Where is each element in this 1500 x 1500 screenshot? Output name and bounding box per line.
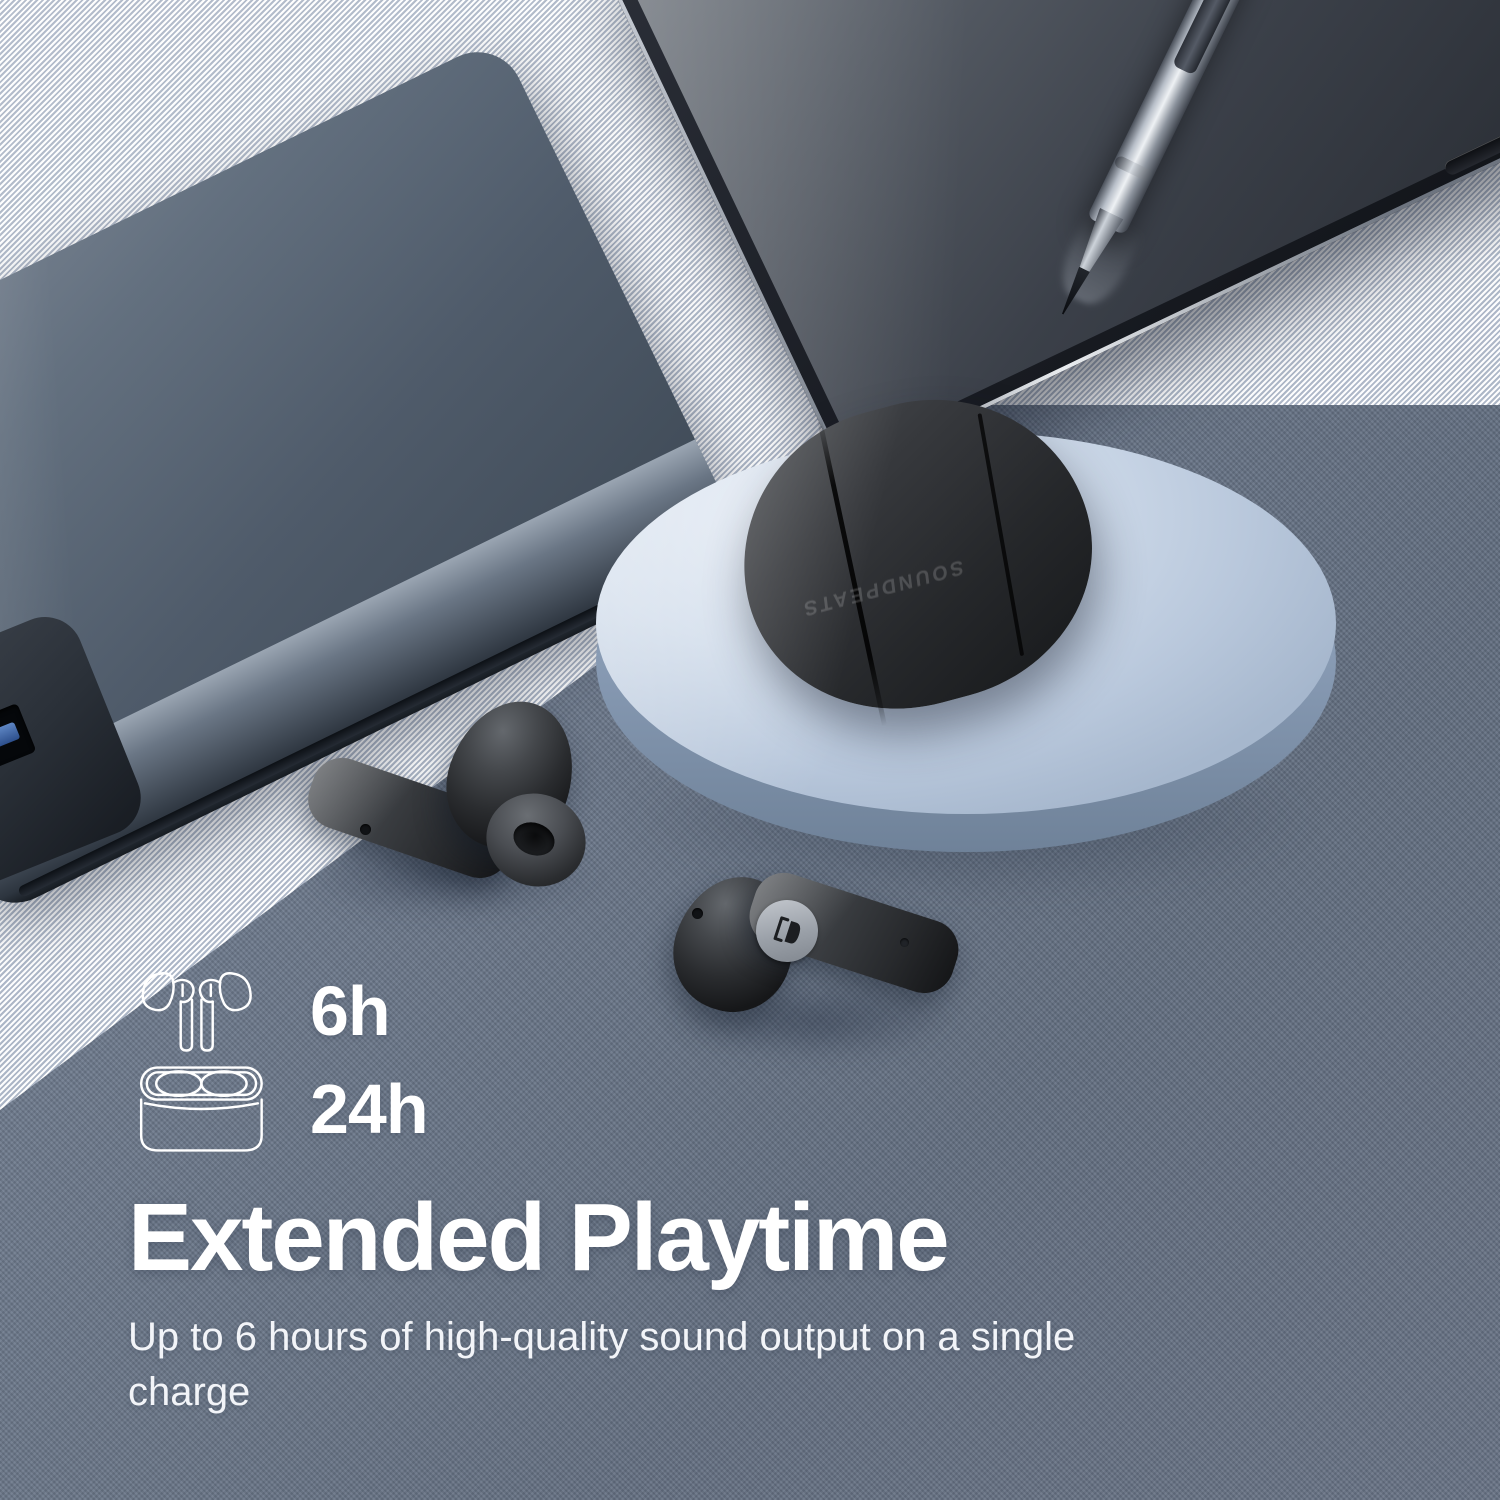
spec-value: 6h [310, 976, 390, 1046]
spec-row: 24h [128, 1060, 548, 1158]
charging-case-icon [128, 1061, 288, 1157]
spec-row: 6h [128, 962, 548, 1060]
earbud-right [660, 862, 960, 1052]
battery-spec-block: 6h 24h [128, 962, 548, 1158]
copy-block: Extended Playtime Up to 6 hours of high-… [128, 1188, 1308, 1420]
spec-value: 24h [310, 1074, 428, 1144]
subtitle: Up to 6 hours of high-quality sound outp… [128, 1310, 1188, 1420]
earbud-left [300, 690, 600, 890]
earbud-left-mic-hole [360, 824, 371, 835]
product-marketing-image: SOUNDPEATS [0, 0, 1500, 1500]
earbud-right-charging-pin [900, 938, 909, 947]
usb-blue-insert [0, 721, 20, 771]
earbuds-pair-icon [128, 963, 288, 1059]
stylus-tip [1057, 267, 1090, 317]
usb-a-port [0, 703, 36, 791]
headline: Extended Playtime [128, 1188, 1308, 1288]
earbud-right-mic-hole [692, 908, 703, 919]
